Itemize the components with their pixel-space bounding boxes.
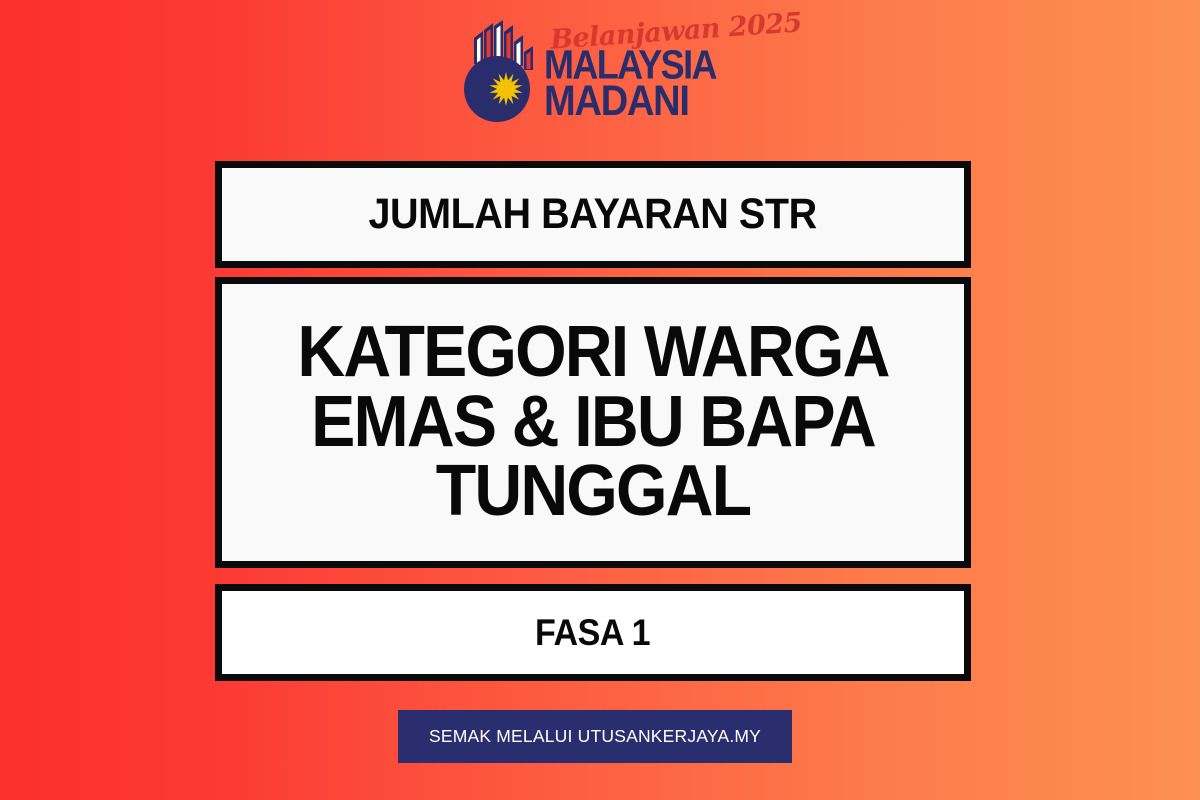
malaysia-madani-emblem-icon: [456, 20, 538, 124]
fasa-text: FASA 1: [535, 612, 650, 654]
semak-melalui-banner-text: SEMAK MELALUI UTUSANKERJAYA.MY: [429, 726, 761, 747]
kategori-box: KATEGORI WARGA EMAS & IBU BAPA TUNGGAL: [215, 277, 971, 568]
jumlah-bayaran-title-text: JUMLAH BAYARAN STR: [369, 190, 817, 239]
fasa-box: FASA 1: [215, 584, 971, 681]
wordmark-line-madani: MADANI: [544, 80, 689, 123]
semak-melalui-banner[interactable]: SEMAK MELALUI UTUSANKERJAYA.MY: [398, 710, 792, 763]
logo-header: Belanjawan 2025 MALAYSIA MADANI: [0, 18, 1200, 122]
logo-wordmark: Belanjawan 2025 MALAYSIA MADANI: [544, 18, 744, 122]
kategori-text: KATEGORI WARGA EMAS & IBU BAPA TUNGGAL: [252, 318, 935, 527]
logo-lockup: Belanjawan 2025 MALAYSIA MADANI: [456, 18, 744, 122]
jumlah-bayaran-title-box: JUMLAH BAYARAN STR: [215, 161, 971, 268]
